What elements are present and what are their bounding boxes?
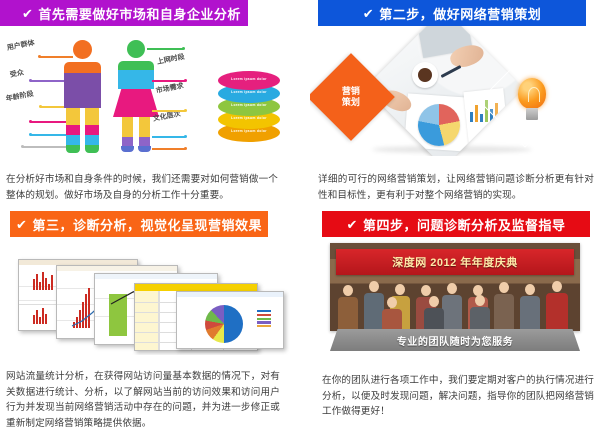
female-foot-right [138,146,151,152]
card-titlebar [57,266,177,271]
female-leg-left [122,117,133,137]
pie-chart [418,104,460,146]
female-foot-left [121,146,134,152]
db-disc-1: Lorem ipsum dolor [218,71,280,90]
leader-dot [184,135,187,138]
team-member [546,281,568,331]
male-foot-left [66,145,80,153]
coffee-cup [412,62,438,88]
report-card-5 [176,291,284,349]
panel-marketing-planning: ✔ 第二步，做好网络营销策划 [310,0,600,156]
pie-chart [205,305,243,343]
team-member [364,281,384,331]
team-photo-figure: 深度网 2012 年年度庆典 [310,237,600,355]
panel-market-analysis: ✔ 首先需要做好市场和自身企业分析 用户群体 受众 年龄阶段 [0,0,290,156]
team-member [442,283,462,331]
team-photo: 深度网 2012 年年度庆典 [330,243,580,331]
check-icon: ✔ [347,218,358,231]
male-head [73,40,92,59]
team-caption-bar: 专业的团队随时为您服务 [330,329,580,351]
panel-header-label: 第四步，问题诊断分析及监督指导 [363,215,566,234]
team-member [520,284,540,331]
persona-label-right-0: 上网时段 [156,52,185,67]
panel-body-marketing-planning: 详细的可行的网络营销策划，让网络营销问题诊断分析更有针对性和目标性，更有利于对整… [318,172,594,203]
panel-header-marketing-planning: ✔ 第二步，做好网络营销策划 [318,0,586,26]
page-root: ✔ 首先需要做好市场和自身企业分析 用户群体 受众 年龄阶段 [0,0,600,437]
team-member [470,295,490,331]
male-leg-left [66,108,80,125]
male-ankle-left [66,135,80,145]
panel-header-label: 第三，诊断分析，视觉化呈现营销效果 [32,215,262,234]
persona-label-left-0: 用户群体 [6,38,35,53]
celebration-banner-text: 深度网 2012 年年度庆典 [392,254,518,270]
card-titlebar [135,284,257,291]
leader-line [152,136,185,138]
male-shin-right [85,125,99,135]
panel-header-supervision-guidance: ✔ 第四步，问题诊断分析及监督指导 [322,211,590,237]
leader-dot [184,79,187,82]
team-members [330,273,580,331]
female-ankle-left [122,137,133,146]
check-icon: ✔ [363,7,374,20]
panel-body-diagnostic-analysis: 网站流量统计分析，在获得网站访问量基本数据的情况下，对有关数据进行统计、分析，以… [6,369,280,431]
male-shoulders [64,62,101,73]
persona-label-right-1: 市场需求 [155,81,184,96]
panel-header-label: 第二步，做好网络营销策划 [379,4,541,23]
card-titlebar [177,292,283,297]
team-member [338,285,358,331]
marketing-plan-diamond: 营销 策划 [310,53,395,141]
check-icon: ✔ [22,7,33,20]
male-torso [64,73,101,108]
leader-line [39,56,73,58]
panel-header-market-analysis: ✔ 首先需要做好市场和自身企业分析 [0,0,248,26]
leader-dot [39,105,42,108]
panel-diagnostic-analysis: ✔ 第三，诊断分析，视觉化呈现营销效果 [0,211,290,355]
leader-line [147,48,183,50]
leader-dot [21,145,24,148]
mini-bar-chart [33,270,53,290]
bulb-glass [518,78,546,109]
male-leg-right [85,108,99,125]
planning-diamond-collage: 营销 策划 [310,26,600,156]
pen-icon [441,65,462,78]
audience-persona-illustration: 用户群体 受众 年龄阶段 [0,26,290,156]
female-leg-right [139,117,150,137]
celebration-banner: 深度网 2012 年年度庆典 [336,249,574,275]
mini-bar-chart [33,306,47,324]
card-titlebar [95,274,217,279]
leader-dot [184,147,187,150]
male-ankle-right [85,135,99,145]
leader-dot [38,55,41,58]
male-foot-right [85,145,99,153]
lightbulb-icon [516,78,548,122]
leader-line [152,110,185,112]
female-head [127,40,145,58]
panel-header-label: 首先需要做好市场和自身企业分析 [38,4,241,23]
leader-dot [184,109,187,112]
leader-dot [29,120,32,123]
persona-label-left-2: 年龄阶段 [5,89,34,104]
marketing-plan-label: 营销 策划 [342,86,360,109]
team-caption-text: 专业的团队随时为您服务 [397,333,514,348]
leader-dot [29,79,32,82]
team-member [382,297,402,331]
female-skirt [113,89,159,117]
chart-legend [257,310,271,327]
check-icon: ✔ [16,218,27,231]
team-member [424,296,444,331]
leader-line [152,80,185,82]
database-stack-icon: Lorem ipsum dolor Lorem ipsum dolor Lore… [218,71,280,143]
female-ankle-right [139,137,150,146]
team-member [494,282,514,331]
leader-dot [182,47,185,50]
leader-dot [29,133,32,136]
persona-label-left-1: 受众 [9,67,25,79]
panel-body-supervision-guidance: 在你的团队进行各项工作中，我们要定期对客户的执行情况进行分析，以便及时发现问题，… [322,373,594,420]
bulb-filament [528,87,540,102]
female-upper [118,70,154,89]
panel-supervision-guidance: ✔ 第四步，问题诊断分析及监督指导 深度网 2012 年年度庆典 [310,211,600,355]
leader-line [152,148,185,150]
bulb-base [526,108,538,120]
male-shin-left [66,125,80,135]
panel-header-diagnostic-analysis: ✔ 第三，诊断分析，视觉化呈现营销效果 [10,211,268,237]
report-screenshots-stack [0,237,290,355]
panel-body-market-analysis: 在分析好市场和自身条件的时候，我们还需要对如何营销做一个整体的规划。做好市场及自… [6,172,278,203]
female-shoulders [118,61,154,70]
